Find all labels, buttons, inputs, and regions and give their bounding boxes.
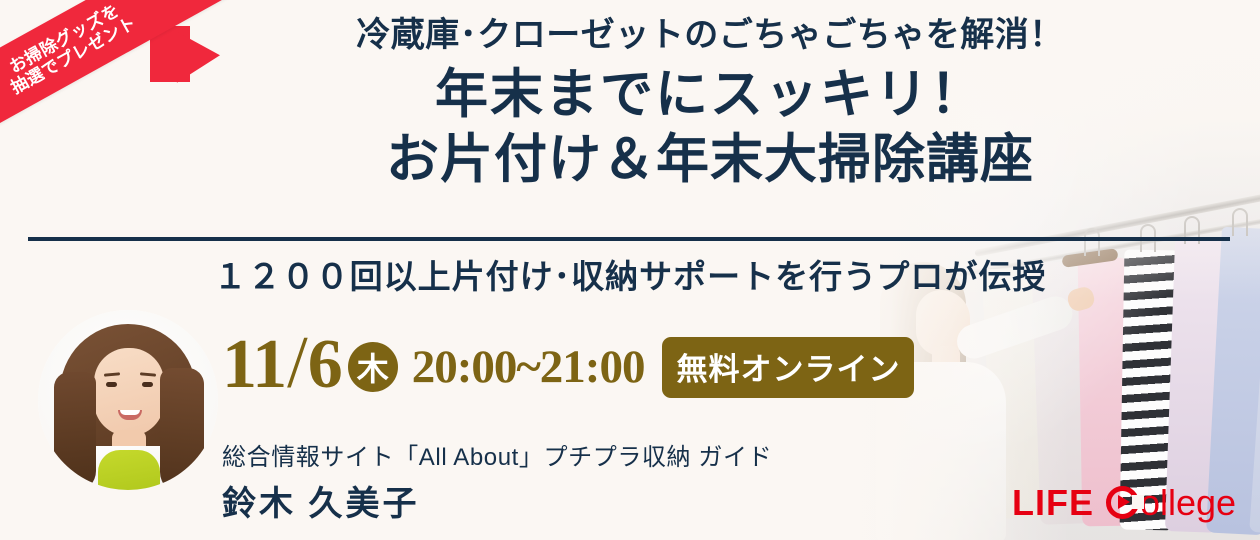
event-date-row: 11/6 木 20:00~21:00 無料オンライン bbox=[222, 326, 914, 400]
headline-title-line-1: 年末までにスッキリ！ bbox=[210, 63, 1210, 127]
event-time: 20:00~21:00 bbox=[412, 340, 645, 394]
logo-c-play-icon bbox=[1106, 483, 1142, 523]
speaker-role: 総合情報サイト「All About」プチプラ収納 ガイド bbox=[222, 437, 772, 472]
headline-subtitle: 冷蔵庫･クローゼットのごちゃごちゃを解消！ bbox=[210, 14, 1210, 57]
date-slash-icon: / bbox=[286, 322, 308, 404]
speaker-name: 鈴木 久美子 bbox=[222, 476, 419, 525]
logo-ollege-text: ollege bbox=[1140, 482, 1236, 524]
avatar-hair-right bbox=[160, 368, 204, 490]
avatar-green-top bbox=[98, 450, 160, 490]
avatar-eye bbox=[106, 382, 117, 387]
avatar-hair-left bbox=[54, 372, 96, 490]
logo-life-text: LIFE bbox=[1012, 482, 1094, 524]
event-day: 6 bbox=[308, 326, 342, 403]
tagline-text: １２００回以上片付け･収納サポートを行うプロが伝授 bbox=[0, 250, 1260, 298]
event-date: 11/6 bbox=[222, 326, 342, 400]
promo-banner: お掃除グッズを 抽選でプレゼント 冷蔵庫･クローゼットのごちゃごちゃを解消！ 年… bbox=[0, 0, 1260, 540]
avatar-eye bbox=[142, 382, 153, 387]
life-college-logo[interactable]: LIFE ollege bbox=[1012, 482, 1236, 524]
logo-c-gap bbox=[1132, 495, 1144, 509]
speaker-avatar bbox=[38, 310, 218, 490]
play-triangle-icon bbox=[1118, 495, 1130, 509]
headline-block: 冷蔵庫･クローゼットのごちゃごちゃを解消！ 年末までにスッキリ！ お片付け＆年末… bbox=[210, 14, 1210, 192]
event-month: 11 bbox=[222, 326, 286, 403]
horizontal-divider bbox=[28, 237, 1230, 241]
ribbon-text: お掃除グッズを 抽選でプレゼント bbox=[0, 0, 139, 98]
avatar-teeth bbox=[120, 410, 140, 415]
free-online-badge: 無料オンライン bbox=[662, 337, 914, 398]
event-day-of-week: 木 bbox=[348, 342, 398, 392]
avatar-face bbox=[94, 348, 164, 436]
headline-title-line-2: お片付け＆年末大掃除講座 bbox=[210, 128, 1210, 192]
